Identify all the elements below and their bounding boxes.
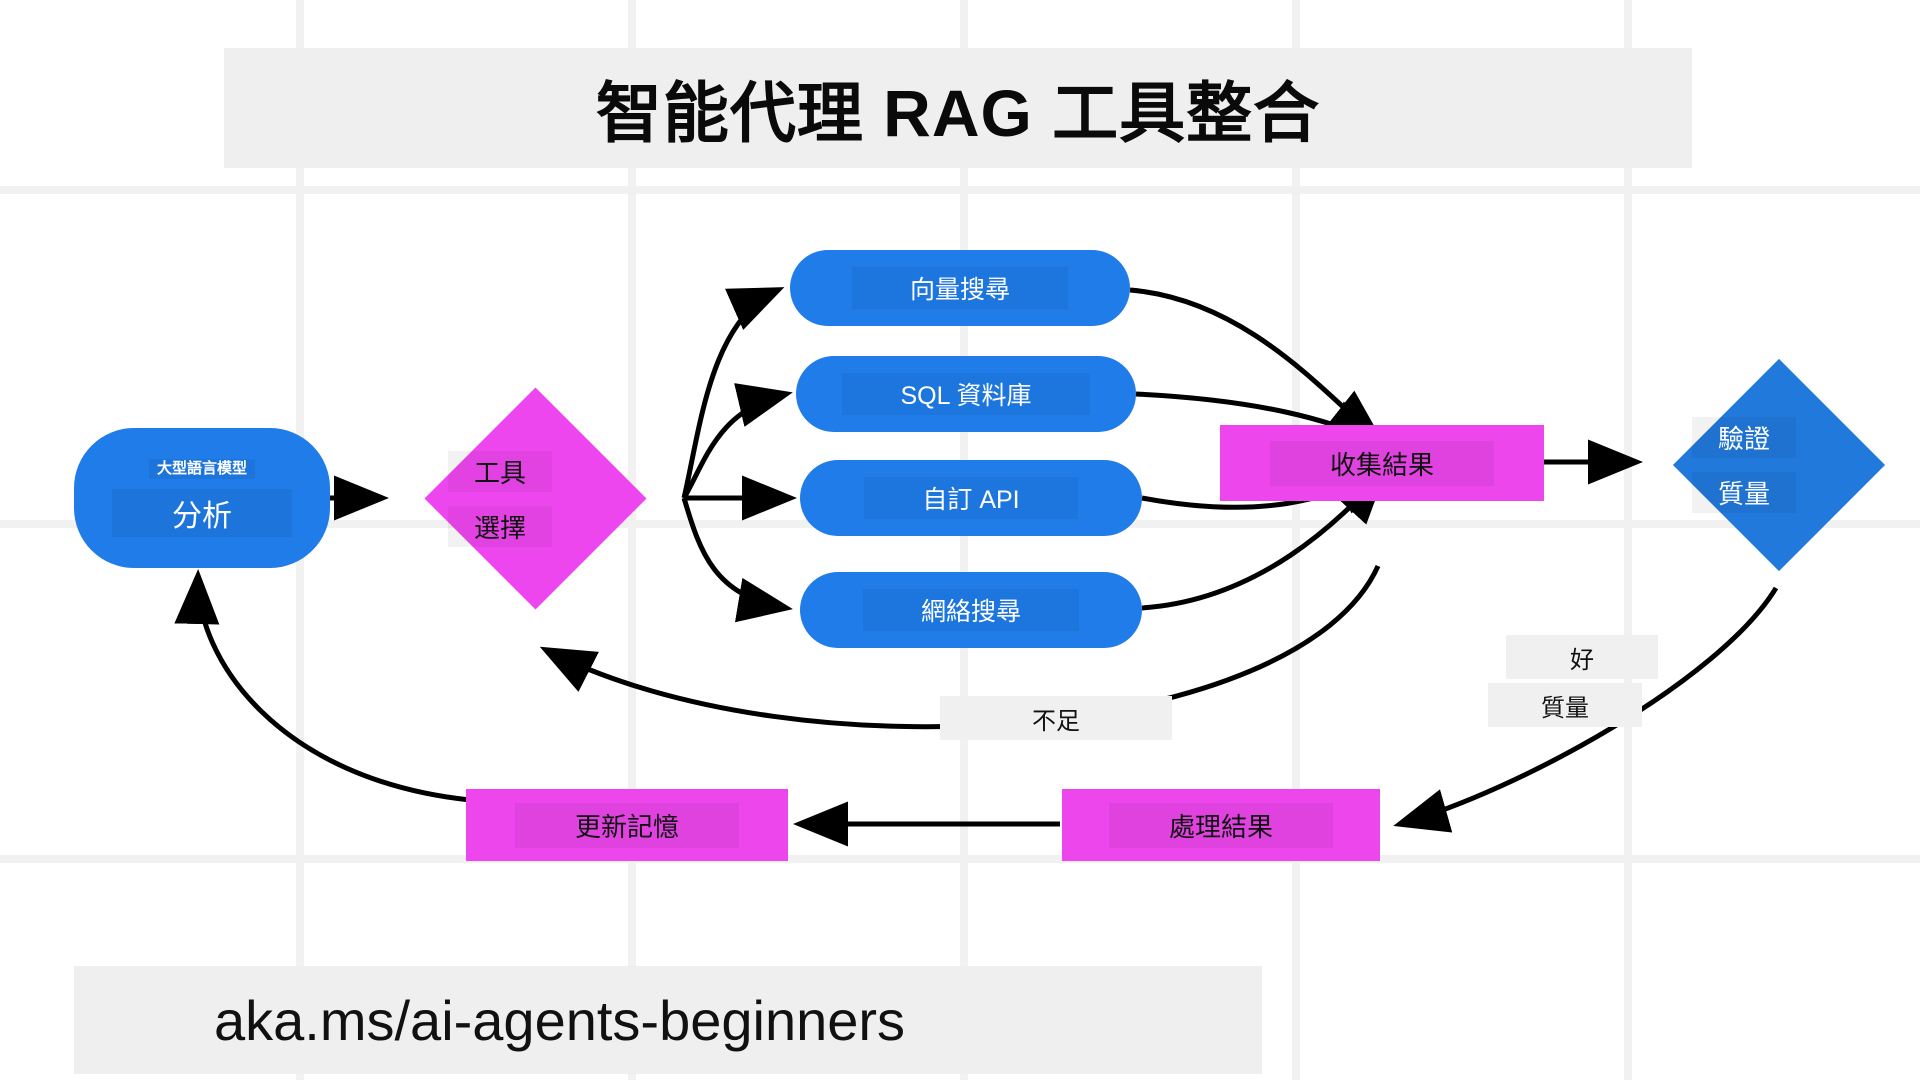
- node-validate-quality-line1: 驗證: [1692, 417, 1796, 458]
- page-title: 智能代理 RAG 工具整合: [596, 60, 1320, 156]
- node-tool-selection-line2: 選擇: [448, 506, 552, 547]
- node-update-memory[interactable]: 更新記憶: [466, 789, 788, 861]
- edge-toolselect-to-web: [684, 498, 786, 608]
- node-llm-label: 分析: [112, 489, 292, 537]
- edge-vector-to-collect: [1130, 290, 1378, 438]
- node-tool-selection-line1: 工具: [448, 451, 552, 492]
- node-validate-quality-line2: 質量: [1692, 472, 1796, 513]
- footer-url: aka.ms/ai-agents-beginners: [74, 988, 905, 1053]
- node-llm-analyze[interactable]: 大型語言模型 分析: [74, 428, 330, 568]
- edge-toolselect-to-sql: [684, 394, 786, 498]
- node-tool-selection[interactable]: 工具 選擇: [457, 420, 614, 577]
- edge-label-good: 好: [1506, 635, 1658, 679]
- node-process-results[interactable]: 處理結果: [1062, 789, 1380, 861]
- node-collect-results-label: 收集結果: [1270, 441, 1494, 486]
- node-tool-vector-search-label: 向量搜尋: [852, 267, 1068, 309]
- edge-label-quality: 質量: [1488, 683, 1642, 727]
- node-tool-sql-database-label: SQL 資料庫: [842, 373, 1089, 415]
- node-update-memory-label: 更新記憶: [515, 803, 739, 848]
- edge-label-quality-text: 質量: [1541, 688, 1589, 723]
- node-tool-custom-api-label: 自訂 API: [864, 477, 1077, 519]
- diagram-title-banner: 智能代理 RAG 工具整合: [224, 48, 1692, 168]
- node-validate-quality[interactable]: 驗證 質量: [1704, 390, 1854, 540]
- diagram-canvas: 智能代理 RAG 工具整合 大型語言模型 分析 工具 選擇 向量搜尋 SQL 資…: [0, 0, 1920, 1080]
- node-tool-custom-api[interactable]: 自訂 API: [800, 460, 1142, 536]
- footer-banner: aka.ms/ai-agents-beginners: [74, 966, 1262, 1074]
- node-tool-vector-search[interactable]: 向量搜尋: [790, 250, 1130, 326]
- edge-label-good-text: 好: [1570, 640, 1594, 675]
- node-tool-web-search-label: 網絡搜尋: [863, 589, 1079, 631]
- node-process-results-label: 處理結果: [1109, 803, 1333, 848]
- edge-label-insufficient-text: 不足: [1032, 701, 1080, 736]
- node-tool-sql-database[interactable]: SQL 資料庫: [796, 356, 1136, 432]
- node-collect-results[interactable]: 收集結果: [1220, 425, 1544, 501]
- edge-update-to-llm: [198, 576, 470, 800]
- edge-label-insufficient: 不足: [940, 696, 1172, 740]
- node-llm-sublabel: 大型語言模型: [149, 459, 255, 480]
- node-tool-web-search[interactable]: 網絡搜尋: [800, 572, 1142, 648]
